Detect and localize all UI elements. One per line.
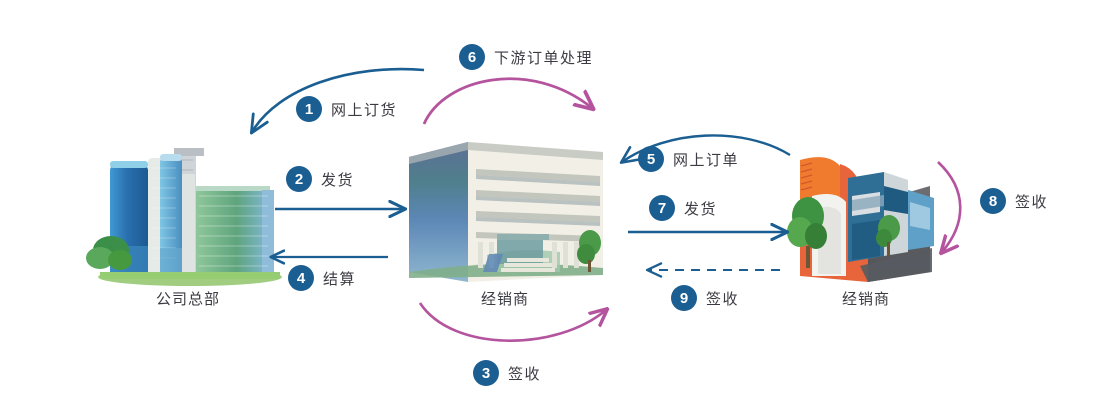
step-4-label: 结算 (323, 268, 356, 289)
node-label-distributor-store: 经销商 (842, 288, 890, 309)
node-label-hq: 公司总部 (156, 288, 220, 309)
step-3-badge: 3 (473, 360, 499, 386)
office-building-image (409, 142, 603, 282)
arrow-step-6 (424, 79, 592, 124)
step-7-badge: 7 (649, 195, 675, 221)
step-3: 3 签收 (473, 360, 541, 386)
step-4-badge: 4 (288, 265, 314, 291)
step-5-label: 网上订单 (673, 149, 739, 170)
step-9-badge: 9 (671, 285, 697, 311)
step-2-badge: 2 (286, 166, 312, 192)
step-2: 2 发货 (286, 166, 354, 192)
step-1: 1 网上订货 (296, 96, 397, 122)
step-8-label: 签收 (1015, 191, 1048, 212)
step-9: 9 签收 (671, 285, 739, 311)
step-1-badge: 1 (296, 96, 322, 122)
storefront-image (787, 157, 934, 282)
step-8-badge: 8 (980, 188, 1006, 214)
step-2-label: 发货 (321, 169, 354, 190)
diagram-canvas: 公司总部 经销商 经销商 1 网上订货 2 发货 3 签收 4 结算 5 网上订… (0, 0, 1094, 410)
office-towers-image (86, 148, 282, 286)
node-label-distributor-center: 经销商 (481, 288, 529, 309)
step-6-badge: 6 (459, 44, 485, 70)
step-7-label: 发货 (684, 198, 717, 219)
arrow-step-8 (938, 162, 960, 252)
step-5-badge: 5 (638, 146, 664, 172)
step-5: 5 网上订单 (638, 146, 739, 172)
step-9-label: 签收 (706, 288, 739, 309)
step-7: 7 发货 (649, 195, 717, 221)
step-6: 6 下游订单处理 (459, 44, 593, 70)
step-4: 4 结算 (288, 265, 356, 291)
step-1-label: 网上订货 (331, 99, 397, 120)
step-6-label: 下游订单处理 (494, 47, 593, 68)
step-8: 8 签收 (980, 188, 1048, 214)
step-3-label: 签收 (508, 363, 541, 384)
